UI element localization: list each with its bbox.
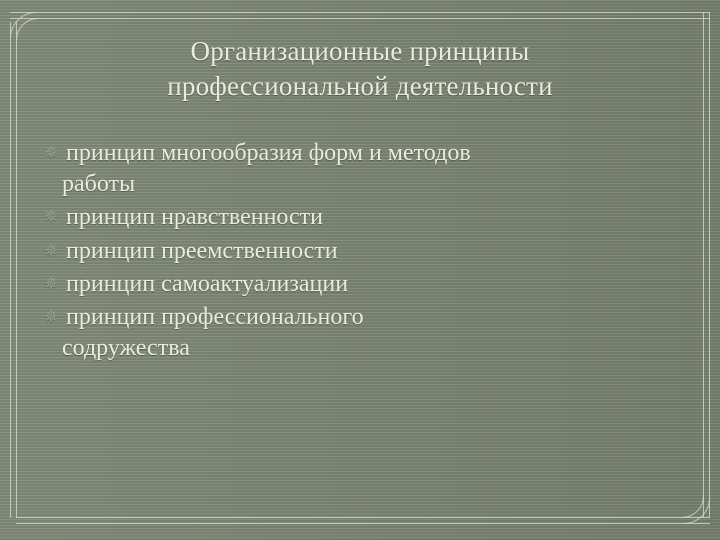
list-item: ✵ принцип преемственности <box>44 236 684 267</box>
presentation-slide: Организационные принципы профессионально… <box>0 0 720 540</box>
frame-line-left-outer <box>10 22 11 518</box>
star-bullet-icon: ✵ <box>44 302 66 332</box>
list-item-text-line-1: принцип профессионального <box>66 304 364 330</box>
list-item-text-line-2: работы <box>62 169 684 200</box>
list-item-text: принцип многообразия форм и методов рабо… <box>66 138 684 200</box>
list-item-text: принцип нравственности <box>66 202 684 233</box>
frame-line-bottom-inner <box>16 517 710 518</box>
list-item-text: принцип преемственности <box>66 236 684 267</box>
list-item-text-line-1: принцип преемственности <box>66 238 338 264</box>
slide-title-line-1: Организационные принципы <box>60 34 660 69</box>
list-item-text-line-1: принцип нравственности <box>66 204 323 230</box>
frame-line-top-inner <box>10 18 710 19</box>
list-item-text: принцип профессионального содружества <box>66 302 684 364</box>
frame-line-right-outer <box>709 12 710 518</box>
frame-line-right-inner <box>703 12 704 518</box>
list-item: ✵ принцип нравственности <box>44 202 684 233</box>
star-bullet-icon: ✵ <box>44 269 66 299</box>
slide-title: Организационные принципы профессионально… <box>60 34 660 103</box>
list-item: ✵ принцип многообразия форм и методов ра… <box>44 138 684 200</box>
list-item-text-line-2: содружества <box>62 333 684 364</box>
list-item-text: принцип самоактуализации <box>66 269 684 300</box>
bullet-list: ✵ принцип многообразия форм и методов ра… <box>44 138 684 366</box>
slide-title-line-2: профессиональной деятельности <box>60 69 660 104</box>
list-item: ✵ принцип профессионального содружества <box>44 302 684 364</box>
list-item: ✵ принцип самоактуализации <box>44 269 684 300</box>
list-item-text-line-1: принцип самоактуализации <box>66 271 348 297</box>
star-bullet-icon: ✵ <box>44 236 66 266</box>
frame-line-top-outer <box>10 12 710 13</box>
star-bullet-icon: ✵ <box>44 138 66 168</box>
star-bullet-icon: ✵ <box>44 202 66 232</box>
frame-line-bottom-outer <box>16 523 710 524</box>
frame-line-left-inner <box>16 22 17 518</box>
list-item-text-line-1: принцип многообразия форм и методов <box>66 140 471 166</box>
